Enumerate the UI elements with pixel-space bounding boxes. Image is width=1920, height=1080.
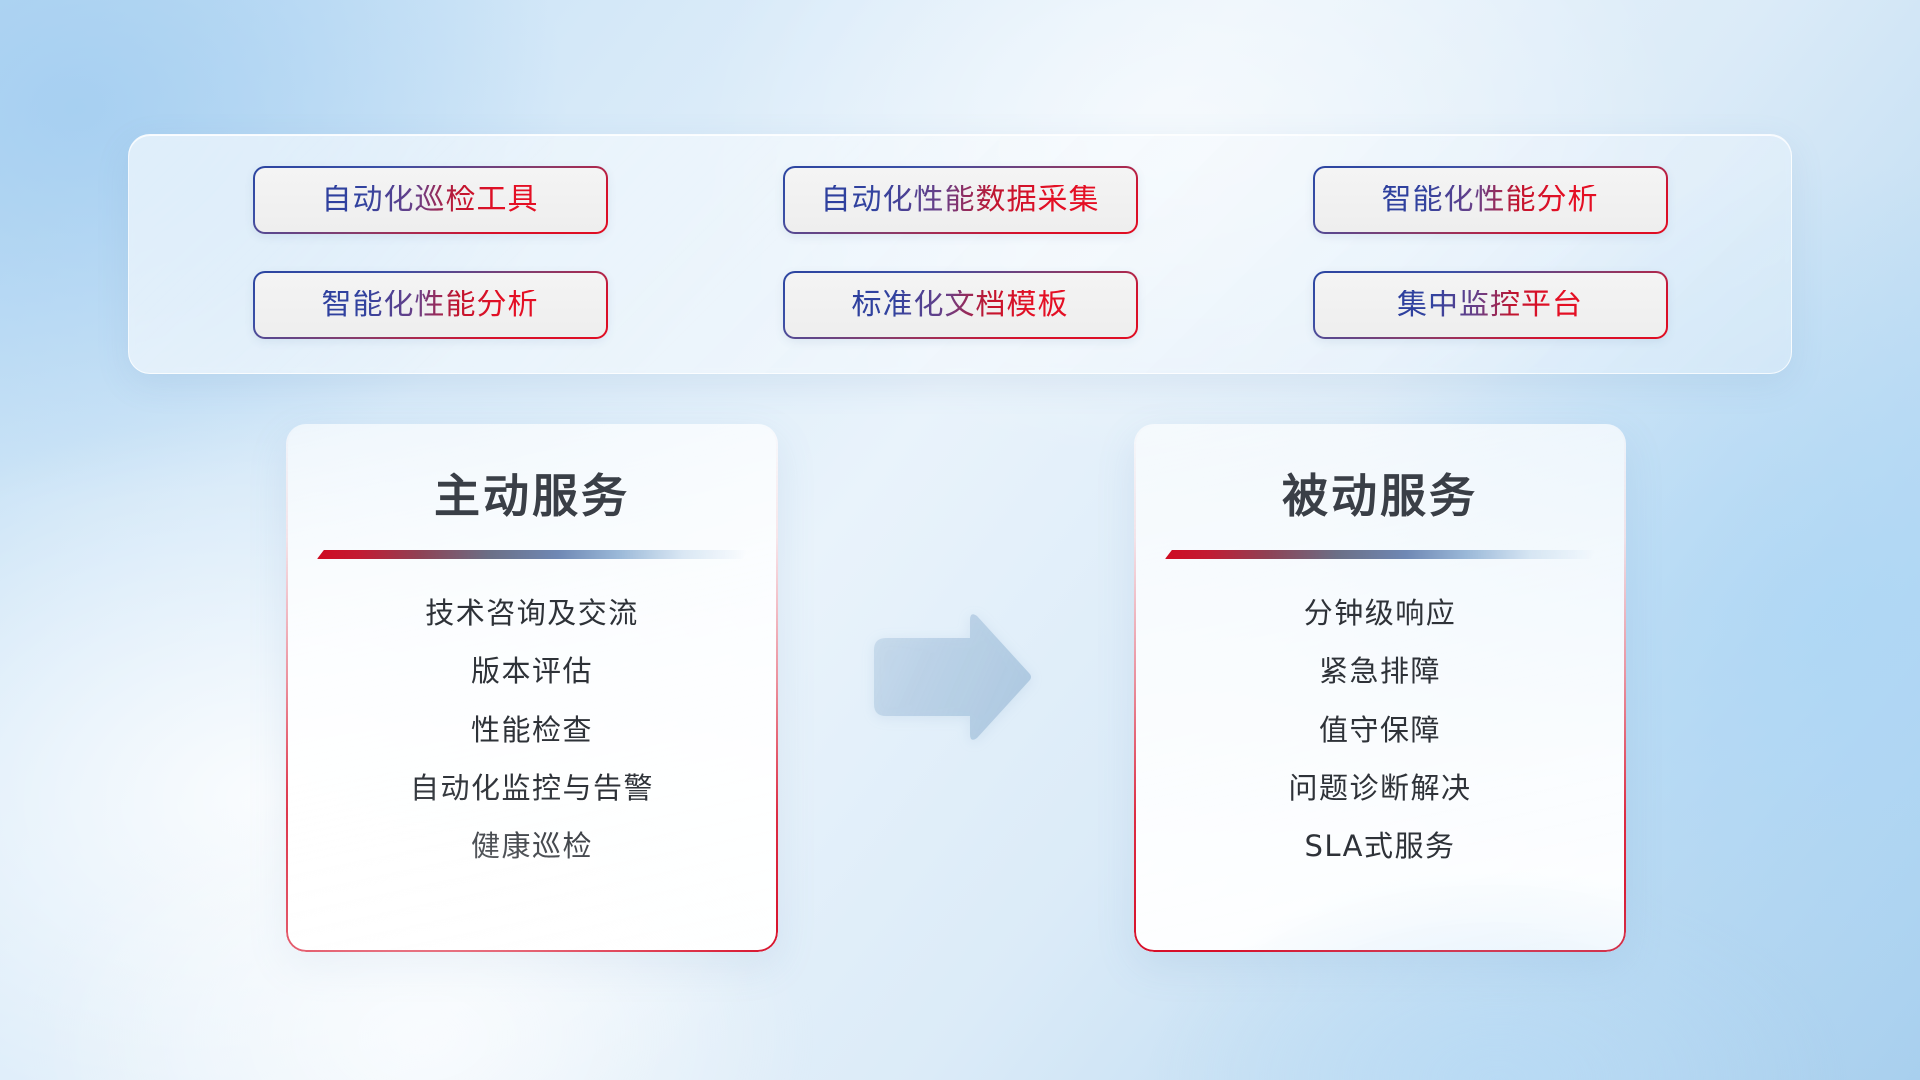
slide-canvas: 自动化巡检工具 自动化性能数据采集 智能化性能分析 智能化性能分析 xyxy=(0,0,1920,1080)
card-title: 被动服务 xyxy=(1134,460,1626,526)
capability-pill[interactable]: 智能化性能分析 xyxy=(253,271,608,339)
right-arrow-icon xyxy=(864,612,1034,740)
capability-pill-label: 集中监控平台 xyxy=(1397,290,1583,320)
capability-pill-inner: 集中监控平台 xyxy=(1315,273,1666,337)
capability-pill[interactable]: 集中监控平台 xyxy=(1313,271,1668,339)
list-item: 值守保障 xyxy=(1319,712,1441,748)
service-item-list: 技术咨询及交流 版本评估 性能检查 自动化监控与告警 健康巡检 xyxy=(286,595,778,864)
capability-pill-label: 标准化文档模板 xyxy=(852,290,1069,320)
card-reactive-service: 被动服务 分钟级响应 紧急排障 值守保障 问题诊断解决 SLA式服务 xyxy=(1134,424,1626,952)
capability-pill-inner: 智能化性能分析 xyxy=(255,273,606,337)
capability-pill-inner: 智能化性能分析 xyxy=(1315,168,1666,232)
capability-panel: 自动化巡检工具 自动化性能数据采集 智能化性能分析 智能化性能分析 xyxy=(128,134,1792,374)
list-item: 健康巡检 xyxy=(471,828,593,864)
capability-pill-inner: 标准化文档模板 xyxy=(785,273,1136,337)
capability-pill-inner: 自动化巡检工具 xyxy=(255,168,606,232)
capability-pill[interactable]: 智能化性能分析 xyxy=(1313,166,1668,234)
list-item: 紧急排障 xyxy=(1319,653,1441,689)
capability-pill-label: 自动化巡检工具 xyxy=(322,185,539,215)
card-proactive-service: 主动服务 技术咨询及交流 版本评估 性能检查 自动化监控与告警 健康巡检 xyxy=(286,424,778,952)
list-item: 分钟级响应 xyxy=(1304,595,1457,631)
capability-pill-label: 自动化性能数据采集 xyxy=(821,185,1100,215)
list-item: 自动化监控与告警 xyxy=(410,770,654,806)
capability-pill-label: 智能化性能分析 xyxy=(322,290,539,320)
capability-pill[interactable]: 自动化性能数据采集 xyxy=(783,166,1138,234)
list-item: SLA式服务 xyxy=(1304,828,1455,864)
capability-pill-inner: 自动化性能数据采集 xyxy=(785,168,1136,232)
capability-pill-grid: 自动化巡检工具 自动化性能数据采集 智能化性能分析 智能化性能分析 xyxy=(129,135,1791,373)
list-item: 版本评估 xyxy=(471,653,593,689)
title-underline-rule xyxy=(1165,550,1595,559)
card-title: 主动服务 xyxy=(286,460,778,526)
capability-pill-label: 智能化性能分析 xyxy=(1382,185,1599,215)
title-underline-rule xyxy=(317,550,747,559)
capability-pill[interactable]: 标准化文档模板 xyxy=(783,271,1138,339)
capability-pill[interactable]: 自动化巡检工具 xyxy=(253,166,608,234)
list-item: 性能检查 xyxy=(471,712,593,748)
list-item: 问题诊断解决 xyxy=(1288,770,1471,806)
service-item-list: 分钟级响应 紧急排障 值守保障 问题诊断解决 SLA式服务 xyxy=(1134,595,1626,864)
list-item: 技术咨询及交流 xyxy=(425,595,639,631)
